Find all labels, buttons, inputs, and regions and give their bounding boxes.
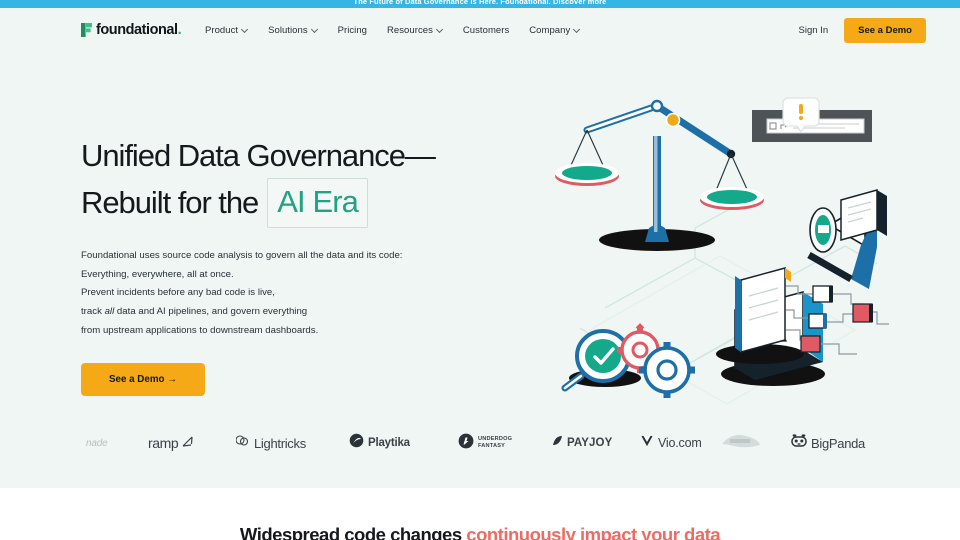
nav-links: Product Solutions Pricing Resources Cust… [205,25,580,36]
alert-window-illustration [752,98,872,142]
hero-description-line: Foundational uses source code analysis t… [81,247,551,266]
client-logo-label: ramp [148,435,178,451]
hero-description-line: from upstream applications to downstream… [81,322,551,341]
nav-item-company-label: Company [529,25,570,36]
hero-description-line: Prevent incidents before any bad code is… [81,284,551,303]
vio-mark-icon [641,434,654,452]
next-section-heading-dark: Widespread code changes [240,524,466,540]
playtika-mark-icon [349,433,364,453]
brand-logo[interactable]: foundational. [81,22,181,38]
client-logo-strip: nade ramp Lightricks Playtika [0,420,960,466]
underdog-mark-icon [458,433,474,454]
nav-item-product[interactable]: Product [205,25,248,36]
nav-item-resources[interactable]: Resources [387,25,443,36]
payjoy-mark-icon [551,434,563,452]
client-logo-label: PAYJOY [567,437,612,449]
brand-dot: . [178,22,182,38]
client-logo-label: BigPanda [811,436,865,451]
nav-item-customers[interactable]: Customers [463,25,509,36]
nav-actions: Sign In See a Demo [799,18,926,43]
hero-description-line: track all data and AI pipelines, and gov… [81,303,551,322]
client-logo-label: Playtika [368,437,410,449]
scales-illustration [555,101,764,251]
sign-in-link[interactable]: Sign In [799,25,829,36]
nav-item-company[interactable]: Company [529,25,580,36]
chevron-down-icon [312,27,318,33]
client-logo-label: Lightricks [254,436,306,451]
document-illustration [841,190,887,240]
nav-item-pricing-label: Pricing [338,25,367,36]
ramp-arrow-icon [182,434,193,452]
brand-name: foundational. [96,22,181,38]
announcement-banner[interactable]: The Future of Data Governance is Here. F… [0,0,960,8]
headline-line-2-prefix: Rebuilt for the [81,181,258,225]
client-logo-vio-com: Vio.com [641,434,702,452]
headline-highlight-ai-era: AI Era [267,178,368,228]
nav-item-solutions-label: Solutions [268,25,308,36]
see-a-demo-button[interactable]: See a Demo [844,18,926,43]
foundational-logo-icon [81,23,92,37]
nav-item-product-label: Product [205,25,238,36]
page-title: Unified Data Governance— Rebuilt for the… [81,134,551,228]
client-logo-lightricks: Lightricks [236,434,306,453]
client-logo-nade: nade [86,438,107,449]
client-logo-playtika: Playtika [349,433,410,453]
nav-item-pricing[interactable]: Pricing [338,25,367,36]
hero-content: Unified Data Governance— Rebuilt for the… [81,134,551,396]
nav-item-customers-label: Customers [463,25,509,36]
client-logo-payjoy: PAYJOY [551,434,612,452]
gears-illustration [617,323,695,398]
chevron-down-icon [437,27,443,33]
client-logo-label: UNDERDOGFANTASY [478,436,512,450]
main-navigation: foundational. Product Solutions Pricing … [0,8,960,52]
hero-description: Foundational uses source code analysis t… [81,247,551,341]
bigpanda-mark-icon [791,434,807,453]
nav-item-solutions[interactable]: Solutions [268,25,318,36]
hero-description-line: Everything, everywhere, all at once. [81,266,551,285]
emphasis-all: all [105,306,115,317]
lightricks-mark-icon [236,434,250,453]
client-logo-faded [718,431,762,456]
hero-section: foundational. Product Solutions Pricing … [0,8,960,488]
next-section-heading: Widespread code changes continuously imp… [240,524,720,540]
hero-illustration [545,78,925,408]
chevron-down-icon [242,27,248,33]
client-logo-label: nade [86,438,107,449]
chevron-down-icon [574,27,580,33]
faded-mark-icon [718,431,762,456]
client-logo-ramp: ramp [148,434,193,452]
client-logo-bigpanda: BigPanda [791,434,865,453]
nav-item-resources-label: Resources [387,25,433,36]
headline-line-1: Unified Data Governance— [81,134,551,178]
hero-see-a-demo-button[interactable]: See a Demo → [81,363,205,396]
client-logo-underdog-fantasy: UNDERDOGFANTASY [458,433,512,454]
landing-page: The Future of Data Governance is Here. F… [0,0,960,540]
headline-line-2: Rebuilt for the AI Era [81,178,551,228]
close-icon[interactable]: × [942,0,946,3]
next-section-heading-accent: continuously impact your data [466,524,720,540]
next-section: Widespread code changes continuously imp… [0,488,960,540]
announcement-text: The Future of Data Governance is Here. F… [354,0,607,6]
client-logo-label: Vio.com [658,436,702,450]
